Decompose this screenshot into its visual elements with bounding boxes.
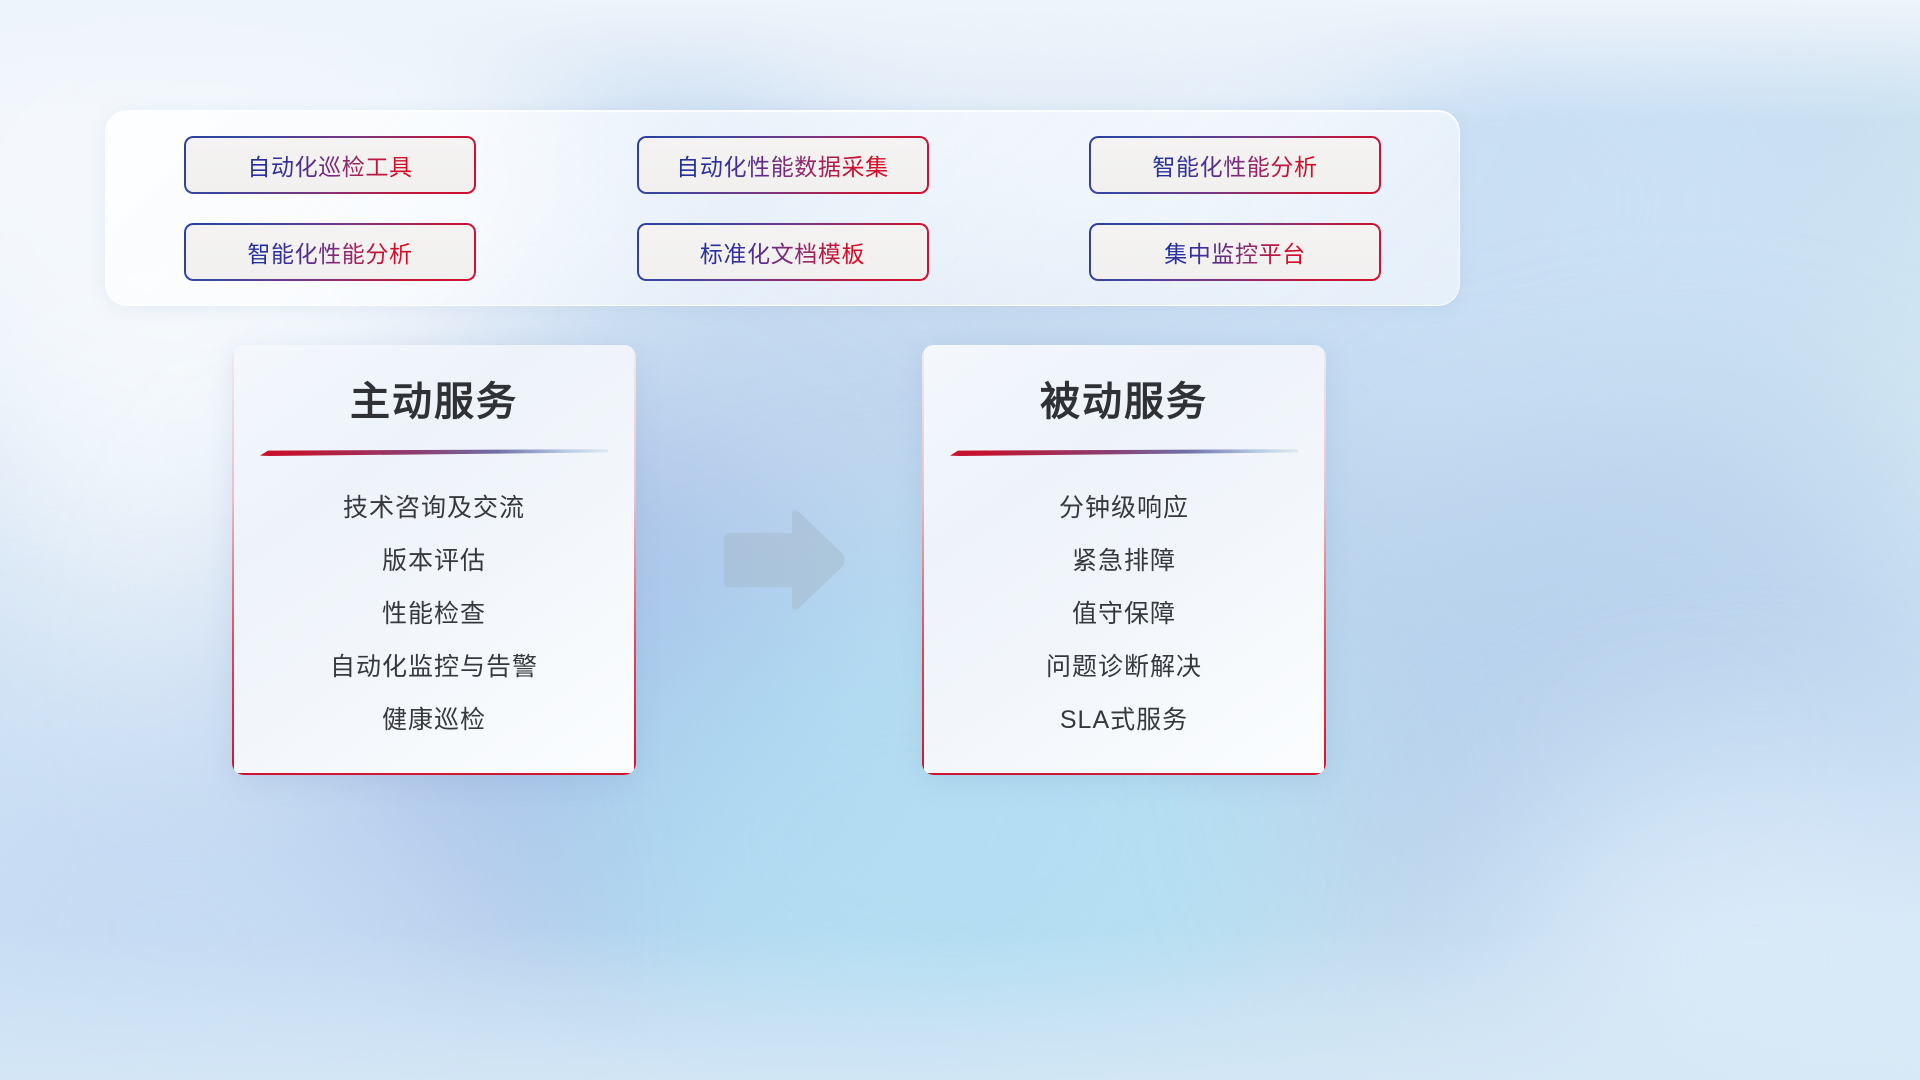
capability-chip-label: 智能化性能分析 — [1152, 148, 1317, 182]
background-bottom-wash — [0, 930, 1920, 1080]
capability-chip[interactable]: 自动化性能数据采集 — [637, 136, 929, 194]
capability-chip-label: 集中监控平台 — [1164, 235, 1306, 269]
list-item[interactable]: 问题诊断解决 — [922, 641, 1326, 694]
card-accent-edge-bottom — [232, 773, 636, 775]
background-top-wash — [0, 0, 1920, 120]
capabilities-panel: 自动化巡检工具 自动化性能数据采集 智能化性能分析 智能化性能分析 标准化文档模… — [105, 110, 1460, 306]
card-divider — [260, 449, 608, 456]
capability-chip-label: 智能化性能分析 — [247, 235, 412, 269]
card-accent-edge-left — [232, 345, 234, 775]
capability-chip-label: 自动化性能数据采集 — [676, 148, 888, 182]
card-item-list: 技术咨询及交流 版本评估 性能检查 自动化监控与告警 健康巡检 — [232, 482, 636, 747]
capability-chip-label: 自动化巡检工具 — [247, 148, 412, 182]
capability-chip[interactable]: 自动化巡检工具 — [184, 136, 476, 194]
capability-chip[interactable]: 智能化性能分析 — [1089, 136, 1381, 194]
capability-row-2: 智能化性能分析 标准化文档模板 集中监控平台 — [184, 223, 1381, 281]
list-item[interactable]: 值守保障 — [922, 588, 1326, 641]
card-divider — [950, 449, 1298, 456]
card-accent-edge-left — [922, 345, 924, 775]
card-item-list: 分钟级响应 紧急排障 值守保障 问题诊断解决 SLA式服务 — [922, 482, 1326, 747]
capability-chip[interactable]: 标准化文档模板 — [637, 223, 929, 281]
list-item[interactable]: 性能检查 — [232, 588, 636, 641]
capability-chip-label: 标准化文档模板 — [700, 235, 865, 269]
card-accent-edge-bottom — [922, 773, 1326, 775]
card-title: 主动服务 — [232, 369, 636, 427]
card-accent-edge-right — [1324, 345, 1326, 775]
list-item[interactable]: 健康巡检 — [232, 694, 636, 747]
list-item[interactable]: 分钟级响应 — [922, 482, 1326, 535]
capability-chip[interactable]: 智能化性能分析 — [184, 223, 476, 281]
list-item[interactable]: 版本评估 — [232, 535, 636, 588]
service-card-proactive: 主动服务 技术咨询及交流 版本评估 性能检查 自动化监控与告警 健康巡检 — [232, 345, 636, 775]
right-arrow-icon — [718, 505, 848, 615]
list-item[interactable]: SLA式服务 — [922, 694, 1326, 747]
service-card-reactive: 被动服务 分钟级响应 紧急排障 值守保障 问题诊断解决 SLA式服务 — [922, 345, 1326, 775]
capability-row-1: 自动化巡检工具 自动化性能数据采集 智能化性能分析 — [184, 136, 1381, 194]
capability-chip[interactable]: 集中监控平台 — [1089, 223, 1381, 281]
list-item[interactable]: 紧急排障 — [922, 535, 1326, 588]
list-item[interactable]: 自动化监控与告警 — [232, 641, 636, 694]
list-item[interactable]: 技术咨询及交流 — [232, 482, 636, 535]
card-accent-edge-right — [634, 345, 636, 775]
card-title: 被动服务 — [922, 369, 1326, 427]
